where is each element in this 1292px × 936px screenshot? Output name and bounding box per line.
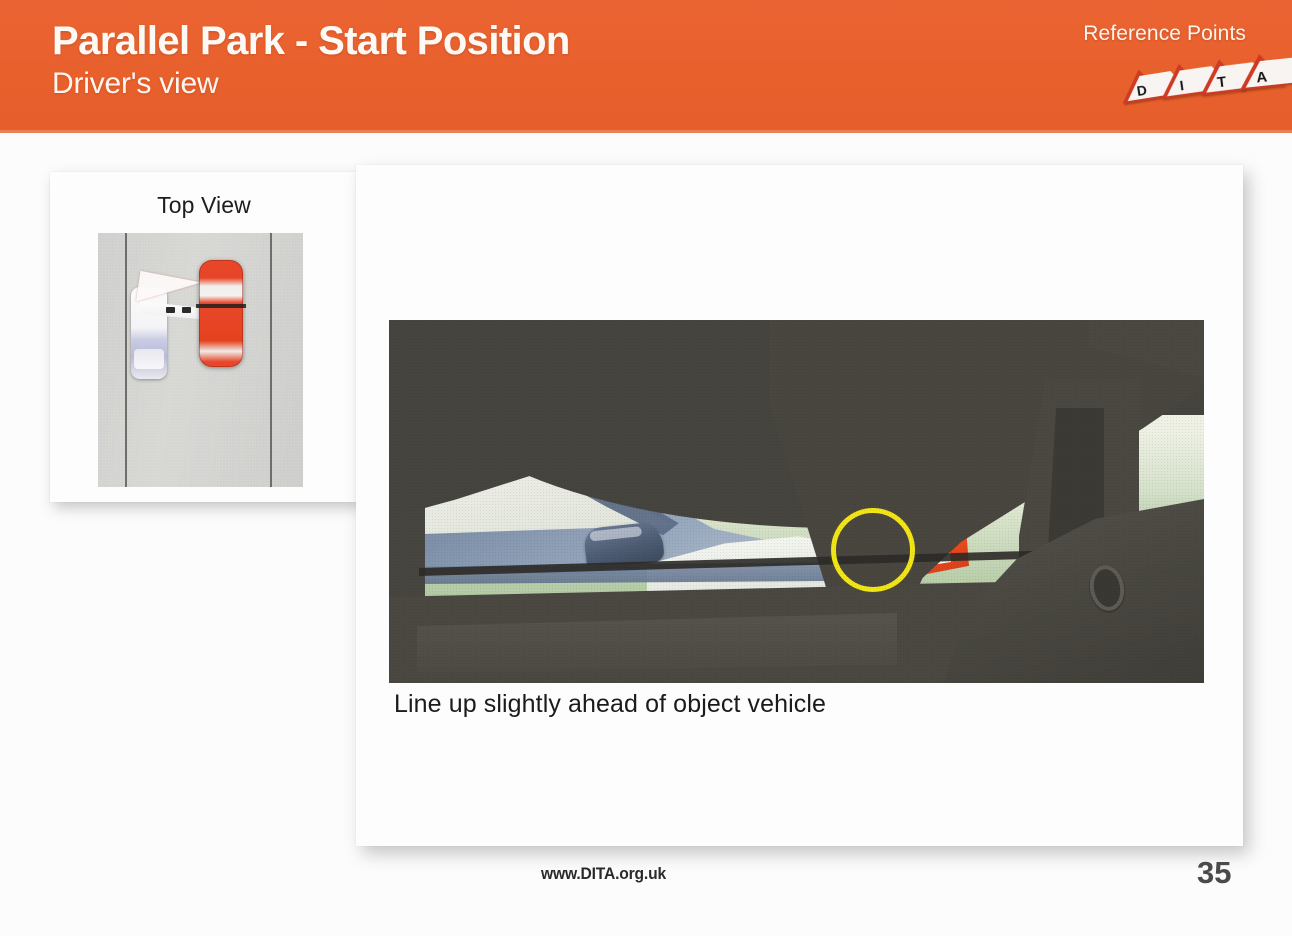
main-content-card: Line up slightly ahead of object vehicle bbox=[356, 165, 1243, 846]
top-view-image bbox=[98, 233, 303, 487]
image-caption: Line up slightly ahead of object vehicle bbox=[394, 690, 826, 719]
header-banner: Parallel Park - Start Position Driver's … bbox=[0, 0, 1292, 133]
title-block: Parallel Park - Start Position Driver's … bbox=[52, 20, 570, 102]
drivers-view-image bbox=[389, 320, 1204, 683]
brand-label: Reference Points bbox=[1046, 22, 1246, 46]
top-view-title: Top View bbox=[50, 192, 358, 219]
page-title: Parallel Park - Start Position bbox=[52, 20, 570, 63]
object-car-top-view bbox=[199, 260, 243, 367]
road-line-left bbox=[125, 233, 127, 487]
road-line-right bbox=[270, 233, 272, 487]
page-number: 35 bbox=[1197, 855, 1231, 891]
page-subtitle: Driver's view bbox=[52, 67, 570, 102]
top-view-card: Top View bbox=[50, 172, 358, 502]
footer-url[interactable]: www.DITA.org.uk bbox=[541, 864, 666, 884]
sight-line-markers bbox=[166, 307, 202, 315]
brand-block: Reference Points D I T A bbox=[1046, 22, 1246, 104]
logo-triangle-a: A bbox=[1236, 52, 1285, 91]
dita-logo: D I T A bbox=[1046, 52, 1246, 104]
slide: Parallel Park - Start Position Driver's … bbox=[0, 0, 1292, 936]
reference-point-highlight-circle bbox=[831, 508, 915, 592]
